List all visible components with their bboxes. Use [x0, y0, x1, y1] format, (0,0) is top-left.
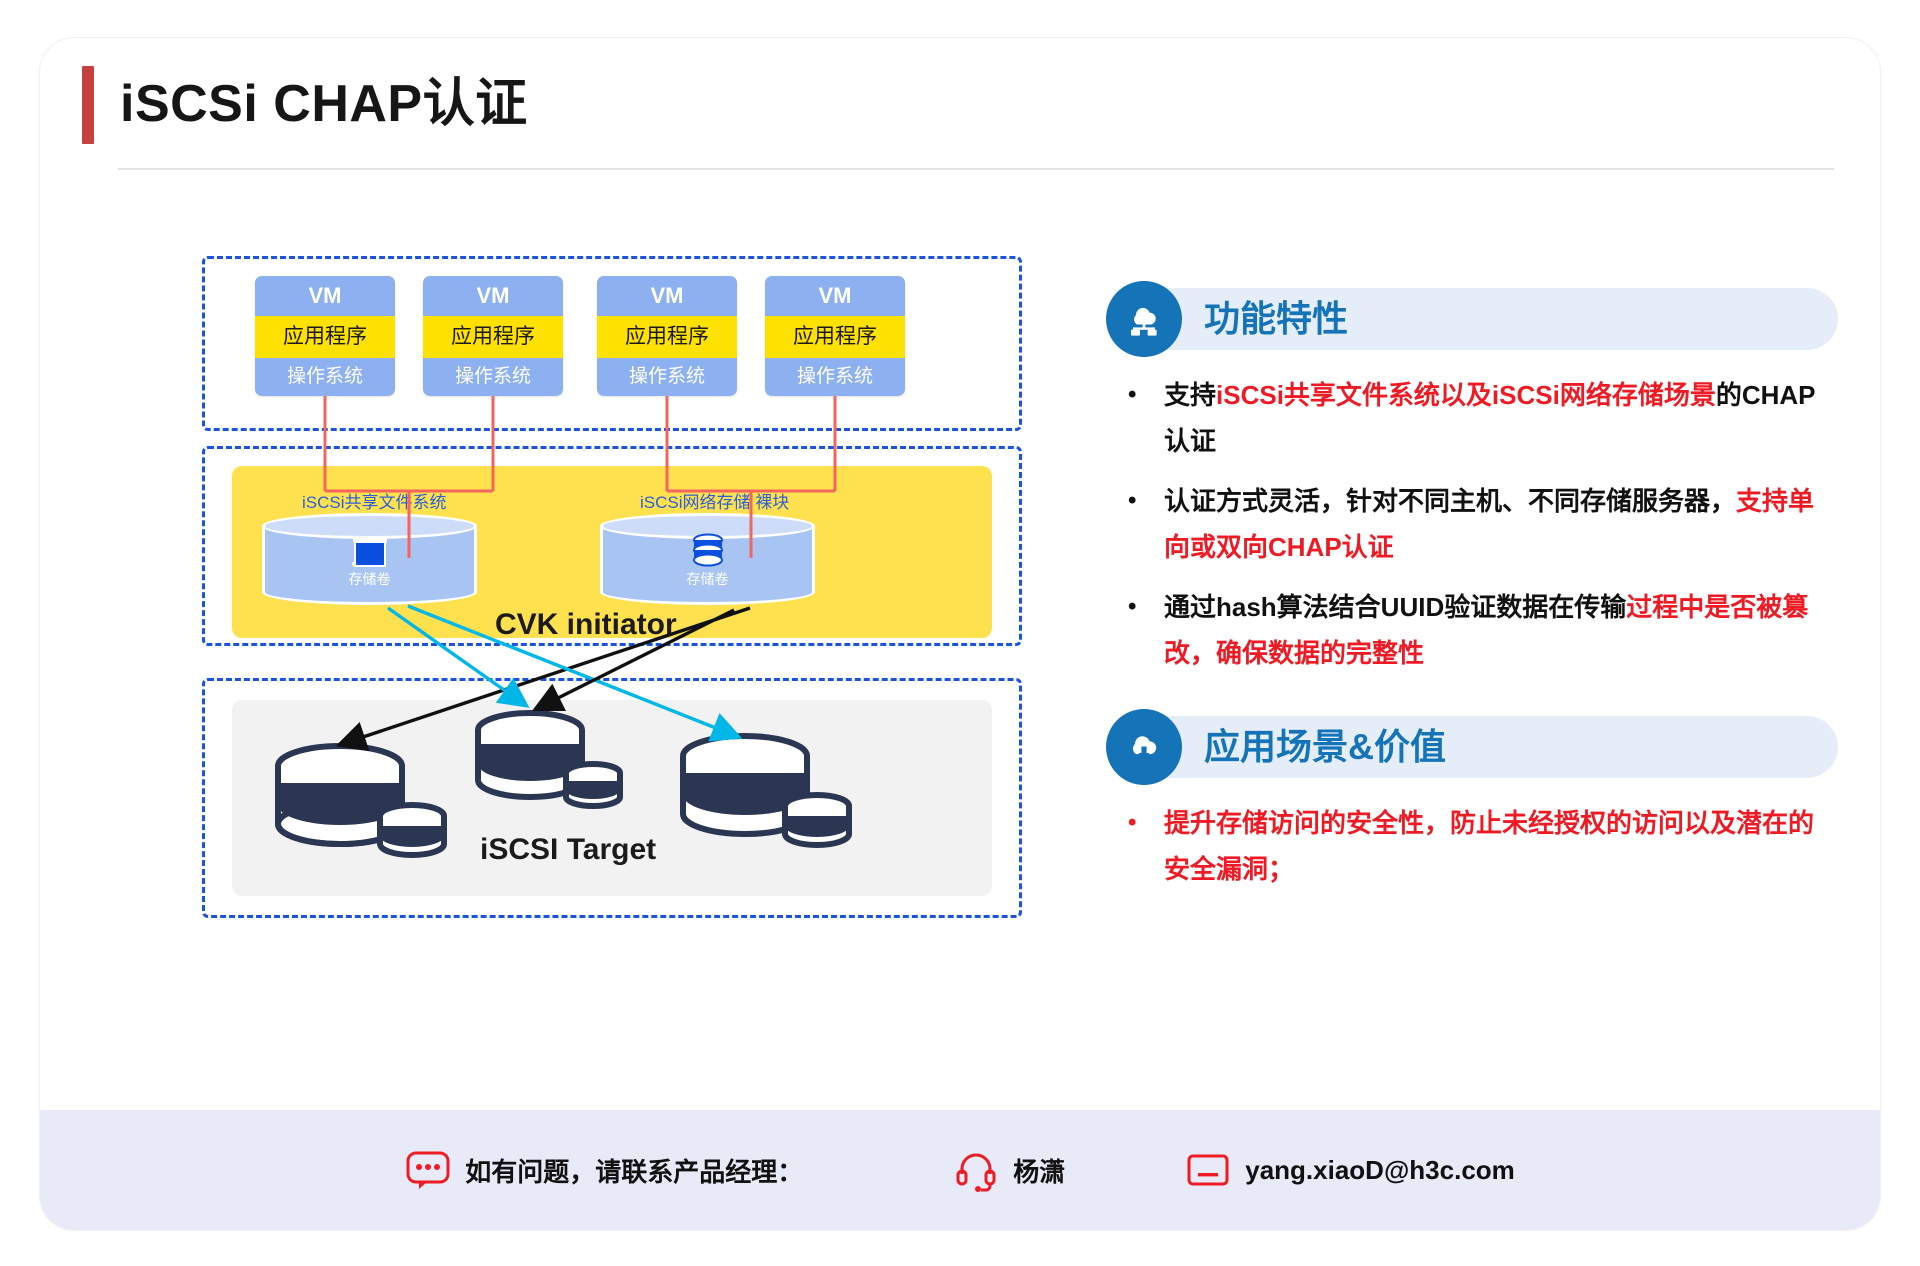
footer-email: yang.xiaoD@h3c.com	[1185, 1147, 1515, 1193]
section-title: 功能特性	[1204, 288, 1348, 350]
feature-panel-column: 功能特性 支持iSCSi共享文件系统以及iSCSi网络存储场景的CHAP认证 认…	[1118, 288, 1838, 906]
target-disk-1	[278, 746, 444, 855]
headset-icon	[953, 1147, 999, 1193]
scenario-bullet-list: 提升存储访问的安全性，防止未经授权的访问以及潜在的安全漏洞；	[1118, 800, 1838, 892]
bullet-item: 认证方式灵活，针对不同主机、不同存储服务器，支持单向或双向CHAP认证	[1118, 478, 1838, 570]
architecture-diagram: VM 应用程序 操作系统 VM 应用程序 操作系统 VM 应用程序 操作系统 V…	[150, 238, 1030, 1048]
footer-person-name: 杨潇	[1013, 1152, 1065, 1189]
title-bar: iSCSi CHAP认证	[40, 38, 1880, 158]
footer-person: 杨潇	[953, 1147, 1065, 1193]
page-title: iSCSi CHAP认证	[120, 68, 528, 140]
chat-bubble-icon	[405, 1147, 451, 1193]
target-disk-group	[150, 238, 1030, 1048]
section-title: 应用场景&价值	[1204, 716, 1446, 778]
target-disk-3	[683, 736, 849, 845]
cloud-network-icon	[1106, 281, 1182, 357]
mail-icon	[1185, 1147, 1231, 1193]
bullet-item: 通过hash算法结合UUID验证数据在传输过程中是否被篡改，确保数据的完整性	[1118, 584, 1838, 676]
target-disk-2	[478, 713, 620, 806]
feature-bullet-list: 支持iSCSi共享文件系统以及iSCSi网络存储场景的CHAP认证 认证方式灵活…	[1118, 372, 1838, 676]
bullet-item: 支持iSCSi共享文件系统以及iSCSi网络存储场景的CHAP认证	[1118, 372, 1838, 464]
slide-root: iSCSi CHAP认证 VM 应用程序 操作系统 VM 应用程序 操作系统 V…	[40, 38, 1880, 1230]
footer-contact: 如有问题，请联系产品经理：	[405, 1147, 803, 1193]
cloud-upload-icon	[1106, 709, 1182, 785]
bullet-item: 提升存储访问的安全性，防止未经授权的访问以及潜在的安全漏洞；	[1118, 800, 1838, 892]
footer-contact-label: 如有问题，请联系产品经理：	[465, 1152, 803, 1189]
title-accent-bar	[82, 66, 94, 144]
footer-email-address: yang.xiaoD@h3c.com	[1245, 1155, 1515, 1186]
section-header-features: 功能特性	[1118, 288, 1838, 350]
title-divider	[118, 168, 1834, 170]
footer-bar: 如有问题，请联系产品经理： 杨潇 yang.xiaoD@h3c.com	[40, 1110, 1880, 1230]
section-header-scenarios: 应用场景&价值	[1118, 716, 1838, 778]
